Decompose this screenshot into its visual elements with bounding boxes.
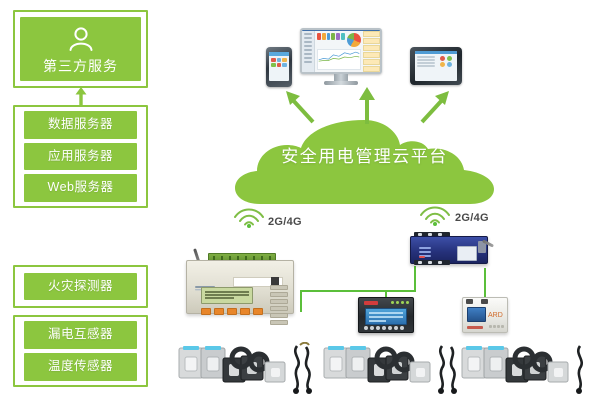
cloud-uplink-arrows	[275, 84, 460, 126]
server-item-data[interactable]: 数据服务器	[24, 111, 137, 139]
panel-meter-brand	[364, 301, 378, 305]
monitor-stand-base	[324, 81, 358, 85]
ct-sensor-cluster-1	[175, 342, 325, 394]
din-meter-terminals	[466, 299, 488, 304]
monitor-bezel	[300, 28, 382, 74]
fire-detector-item[interactable]: 火灾探测器	[24, 273, 137, 301]
wire-gateway-left-drop	[300, 290, 302, 312]
smartphone-screen	[269, 52, 289, 81]
controller-lcd-display	[201, 287, 253, 304]
dashboard-sidebar	[302, 31, 315, 72]
tablet-right-pane	[437, 56, 455, 79]
dark-panel-meter-device[interactable]	[358, 297, 414, 333]
panel-meter-leds	[391, 301, 409, 304]
wifi-signal-icon-right	[418, 200, 452, 226]
controller-buttons[interactable]	[201, 308, 263, 315]
gateway-label-plate	[457, 246, 477, 261]
gateway-power-led	[419, 256, 425, 258]
wire-gateway-down	[414, 266, 416, 292]
tablet-screen	[415, 51, 457, 81]
monitor-stand-neck	[334, 74, 348, 81]
din-rail-controller-device[interactable]	[186, 248, 292, 316]
wire-to-din-meter	[484, 270, 486, 300]
din-meter-buttons[interactable]	[489, 325, 504, 328]
gateway-bottom-connector	[414, 260, 450, 265]
sensor-item-residual-current[interactable]: 漏电互感器	[24, 321, 137, 349]
server-group-panel: 数据服务器 应用服务器 Web服务器	[13, 105, 148, 208]
tablet-left-pane	[417, 56, 435, 79]
arrow-servers-to-third-party-icon	[74, 86, 88, 106]
sensor-item-temperature[interactable]: 温度传感器	[24, 353, 137, 381]
sensor-group-panel: 漏电互感器 温度传感器	[13, 315, 148, 387]
monitor-screen	[302, 30, 380, 72]
ct-sensor-cluster-2	[320, 342, 470, 394]
dashboard-pie-chart	[347, 33, 361, 47]
third-party-service-panel[interactable]: 第三方服务	[13, 10, 148, 88]
third-party-service-label: 第三方服务	[43, 59, 118, 73]
cloud-platform-label: 安全用电管理云平台	[232, 148, 497, 165]
controller-qr-code	[271, 277, 279, 285]
controller-brand-mark	[195, 278, 223, 283]
ct-sensor-cluster-3	[458, 342, 600, 394]
blue-communication-gateway-device[interactable]	[410, 232, 490, 266]
server-item-application[interactable]: 应用服务器	[24, 143, 137, 171]
wire-din-meter-top	[484, 268, 486, 272]
person-icon	[64, 26, 98, 57]
desktop-monitor-device[interactable]	[300, 28, 382, 86]
dashboard-kpi-tiles	[317, 33, 345, 40]
controller-shell	[186, 260, 294, 314]
panel-meter-lcd	[365, 308, 407, 325]
din-meter-brand	[467, 326, 483, 329]
dashboard-alert-list	[363, 31, 380, 72]
svg-text:ARD: ARD	[488, 312, 503, 319]
server-item-web[interactable]: Web服务器	[24, 174, 137, 202]
smartphone-app-grid	[269, 56, 289, 69]
signal-label-right: 2G/4G	[455, 213, 489, 224]
fire-detector-panel: 火灾探测器	[13, 265, 148, 308]
controller-side-terminals	[270, 285, 288, 325]
smartphone-device[interactable]	[266, 47, 292, 87]
panel-meter-keys[interactable]	[364, 326, 404, 330]
din-meter-print: ARD	[488, 306, 504, 316]
wire-gateway-horizontal	[300, 290, 415, 292]
diagram-canvas: 第三方服务 数据服务器 应用服务器 Web服务器 火灾探测器 漏电互感器 温度传…	[0, 0, 600, 400]
white-din-meter-device[interactable]: ARD	[462, 297, 508, 333]
signal-label-left: 2G/4G	[268, 217, 302, 228]
wifi-signal-icon-left	[232, 202, 266, 228]
third-party-service-inner: 第三方服务	[20, 17, 141, 81]
din-meter-lcd	[467, 307, 486, 322]
tablet-device[interactable]	[410, 47, 462, 85]
cloud-platform[interactable]: 安全用电管理云平台	[232, 118, 497, 206]
dashboard-line-chart	[317, 49, 361, 70]
